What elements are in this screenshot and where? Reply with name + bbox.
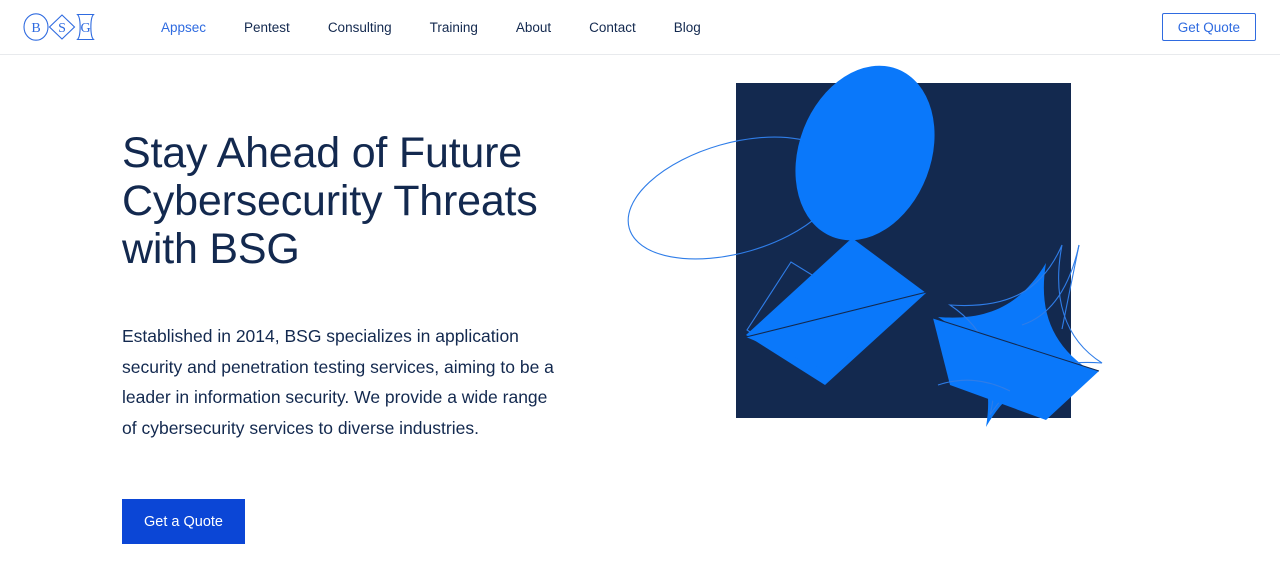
hero-section: Stay Ahead of Future Cybersecurity Threa…	[0, 55, 1280, 585]
hero-copy: Stay Ahead of Future Cybersecurity Threa…	[0, 55, 560, 544]
nav-item-appsec[interactable]: Appsec	[142, 0, 225, 55]
nav-item-contact[interactable]: Contact	[570, 0, 655, 55]
nav-item-pentest[interactable]: Pentest	[225, 0, 309, 55]
outline-curve-topright	[1022, 245, 1079, 325]
bsg-logo[interactable]: B S G	[22, 12, 96, 42]
filled-triangle-left	[746, 292, 927, 372]
get-quote-button[interactable]: Get Quote	[1162, 13, 1256, 41]
outline-curve-bottomleft	[938, 380, 1010, 391]
hero-headline: Stay Ahead of Future Cybersecurity Threa…	[122, 129, 560, 273]
hero-paragraph: Established in 2014, BSG specializes in …	[122, 321, 560, 443]
outline-ellipse	[614, 115, 856, 281]
nav-item-consulting[interactable]: Consulting	[309, 0, 411, 55]
nav-item-about[interactable]: About	[497, 0, 570, 55]
navy-panel	[736, 83, 1071, 418]
four-pointed-star	[938, 263, 1094, 427]
hero-illustration-svg	[650, 55, 1170, 575]
svg-text:G: G	[80, 21, 90, 36]
quad-edge-line	[933, 318, 1099, 371]
get-a-quote-button[interactable]: Get a Quote	[122, 499, 245, 544]
bsg-logo-icon: B S G	[22, 12, 96, 42]
svg-text:S: S	[58, 21, 66, 36]
filled-ellipse	[771, 45, 959, 260]
hero-illustration	[650, 55, 1170, 575]
site-header: B S G Appsec Pentest Consulting Training…	[0, 0, 1280, 55]
svg-text:B: B	[31, 21, 40, 36]
outline-star	[950, 245, 1102, 415]
filled-square-left	[746, 238, 926, 385]
nav-item-blog[interactable]: Blog	[655, 0, 720, 55]
main-navigation: Appsec Pentest Consulting Training About…	[142, 0, 720, 55]
outline-line-topright	[1062, 245, 1079, 329]
triangle-edge-line	[746, 292, 927, 337]
filled-quad-right	[933, 318, 1099, 420]
outline-square-left	[747, 262, 861, 373]
nav-item-training[interactable]: Training	[411, 0, 497, 55]
